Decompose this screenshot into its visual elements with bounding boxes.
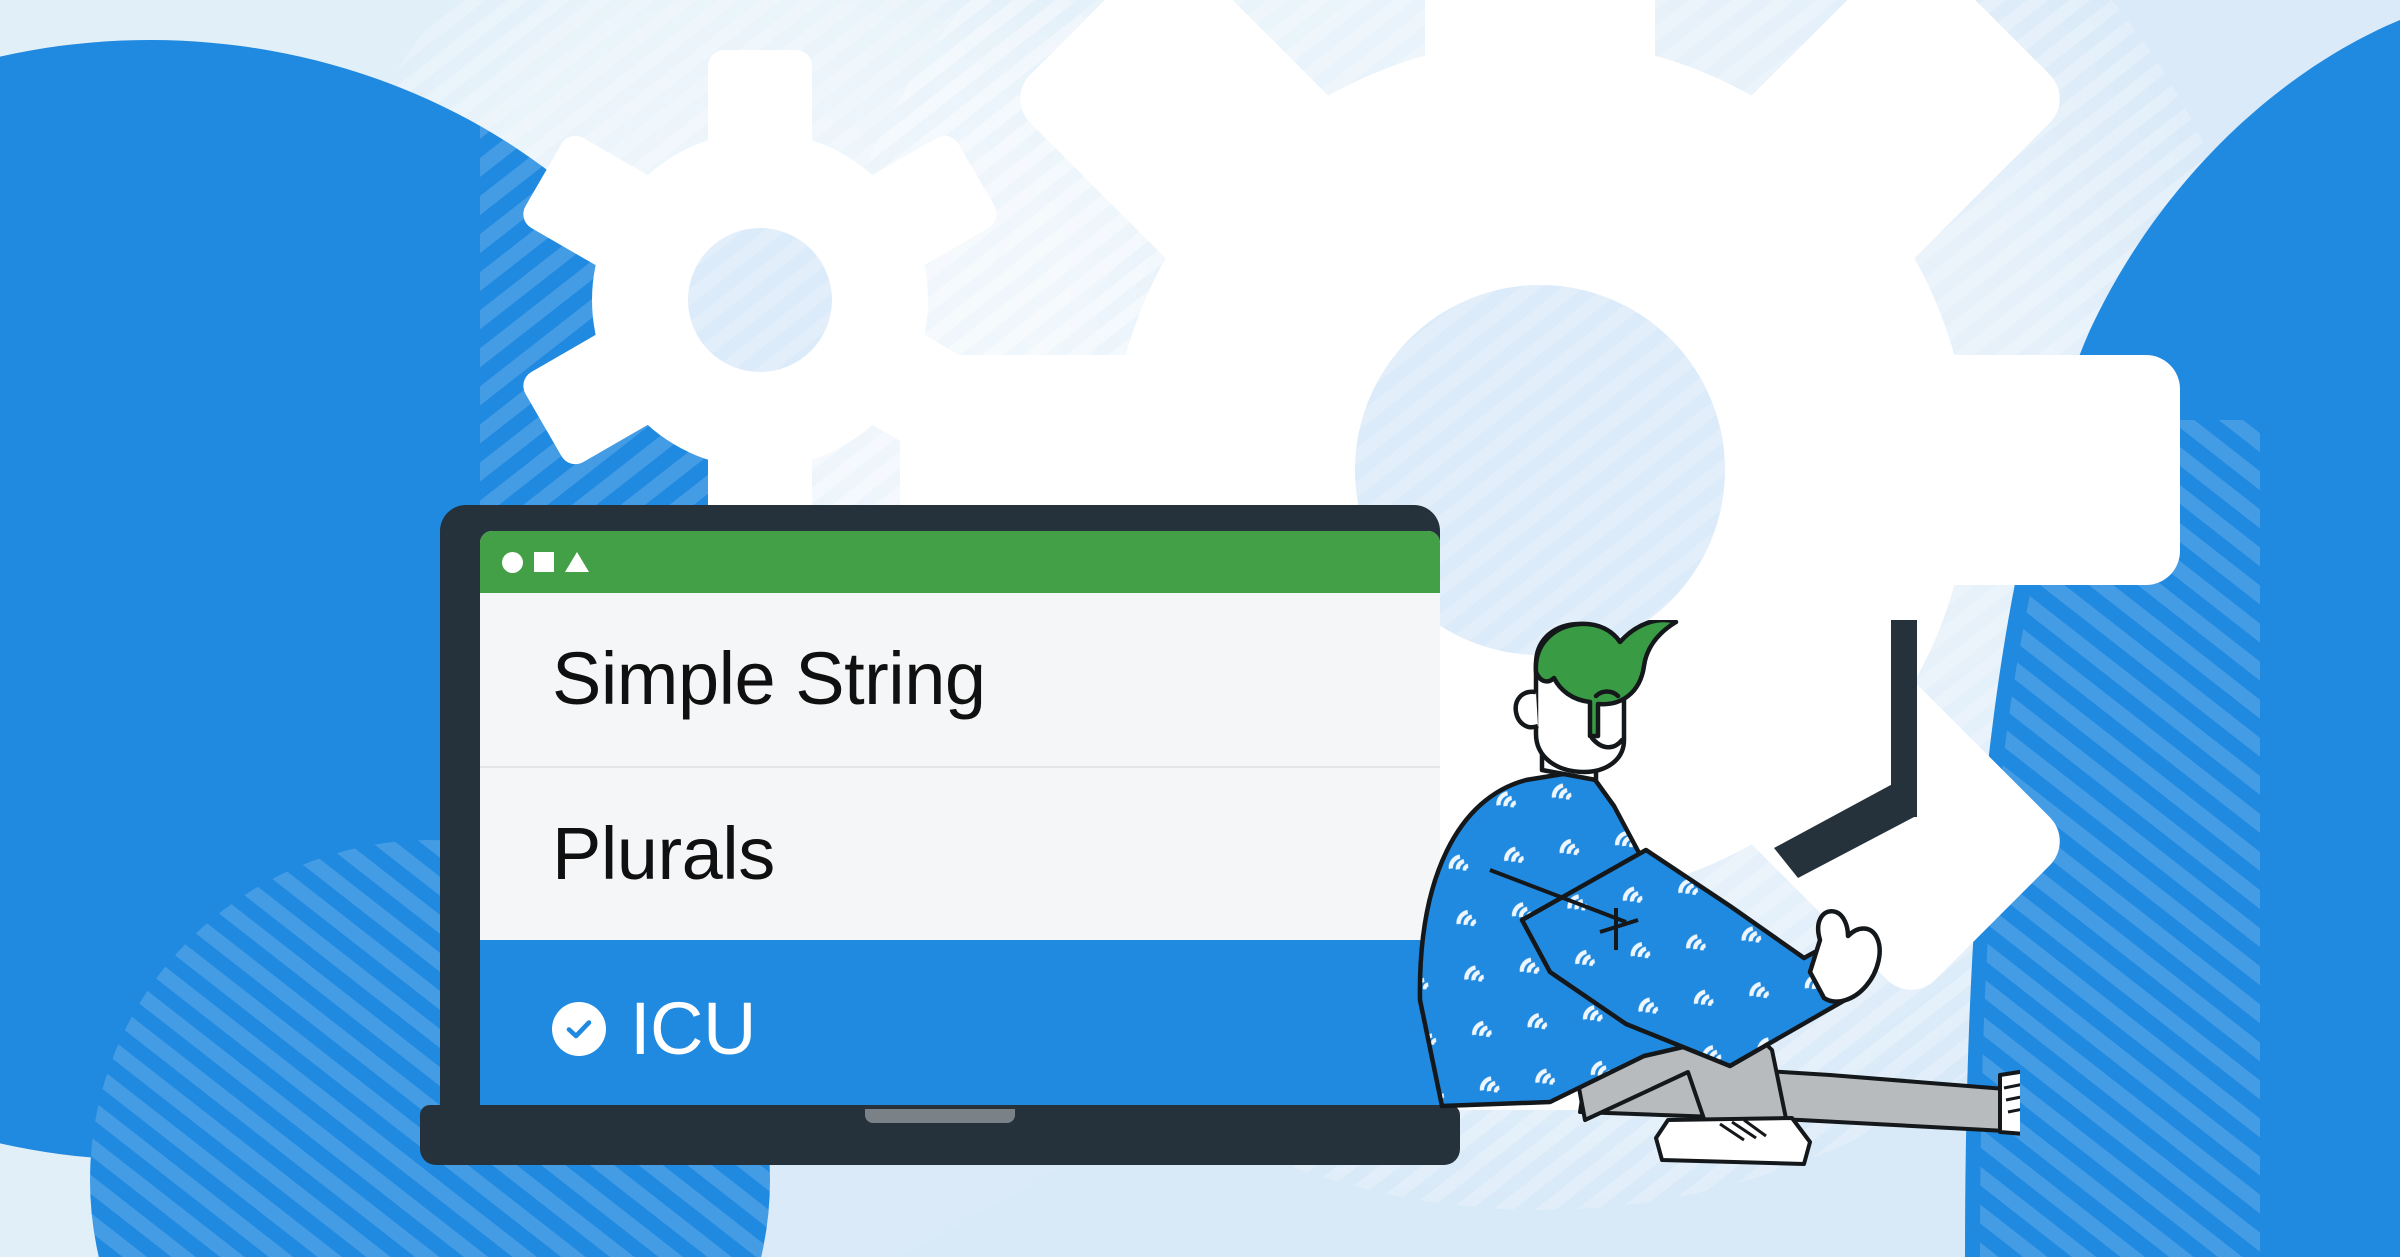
window-titlebar — [480, 531, 1440, 593]
shoe-front — [1656, 1118, 1810, 1164]
list-item-icu[interactable]: ICU — [480, 940, 1440, 1115]
illustration-stage: Simple String Plurals ICU — [0, 0, 2400, 1257]
check-circle-icon — [552, 1002, 606, 1056]
square-shape-icon[interactable] — [534, 552, 554, 572]
list-item-label: Plurals — [552, 817, 775, 891]
laptop-lid: Simple String Plurals ICU — [440, 505, 1440, 1115]
triangle-shape-icon[interactable] — [565, 552, 589, 572]
list-item-plurals[interactable]: Plurals — [480, 766, 1440, 941]
format-option-list: Simple String Plurals ICU — [480, 593, 1440, 1115]
head — [1516, 620, 1676, 780]
list-item-label: Simple String — [552, 642, 986, 716]
circle-shape-icon[interactable] — [502, 552, 523, 573]
person-illustration — [1400, 620, 2020, 1180]
list-item-label: ICU — [630, 992, 756, 1066]
hand — [1810, 911, 1880, 1001]
shoe-back — [2000, 1068, 2020, 1136]
list-item-simple-string[interactable]: Simple String — [480, 593, 1440, 766]
held-laptop-icon — [1774, 620, 1916, 878]
laptop-device: Simple String Plurals ICU — [420, 505, 1460, 1165]
laptop-notch — [865, 1109, 1015, 1123]
laptop-screen: Simple String Plurals ICU — [480, 531, 1440, 1115]
